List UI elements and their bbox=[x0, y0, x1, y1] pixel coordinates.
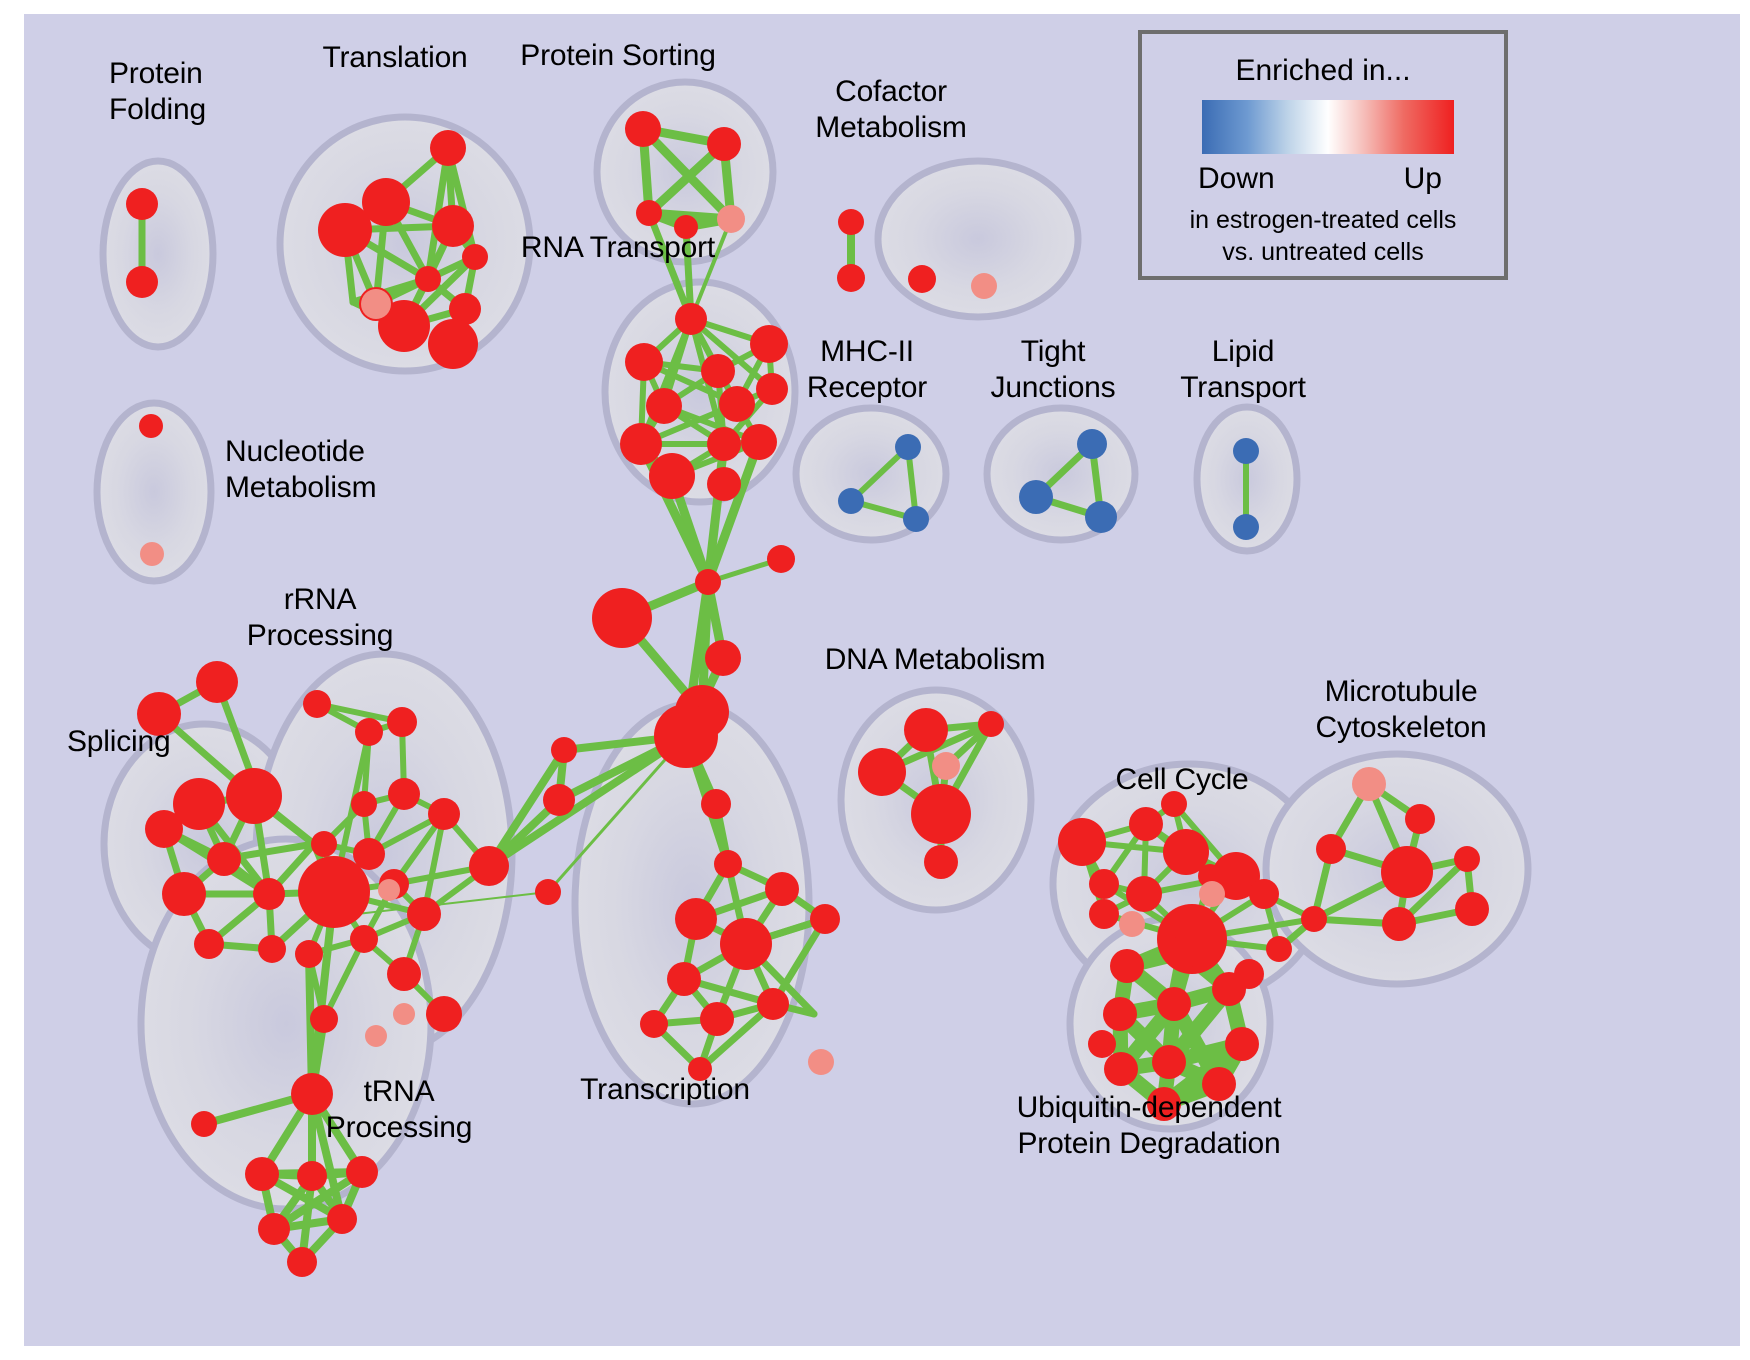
node bbox=[430, 130, 466, 166]
node bbox=[428, 798, 460, 830]
label-microtubule-cytoskeleton: Microtubule Cytoskeleton bbox=[1315, 674, 1486, 746]
node bbox=[1167, 935, 1201, 969]
node bbox=[551, 737, 577, 763]
node-weak bbox=[932, 752, 960, 780]
node bbox=[318, 203, 372, 257]
node bbox=[837, 264, 865, 292]
node bbox=[707, 127, 741, 161]
node bbox=[407, 897, 441, 931]
figure-root: Protein Folding Translation Protein Sort… bbox=[0, 0, 1750, 1360]
node bbox=[1104, 1052, 1138, 1086]
legend-high-label: Up bbox=[1404, 162, 1442, 196]
node-down bbox=[903, 506, 929, 532]
network-canvas: Protein Folding Translation Protein Sort… bbox=[24, 14, 1740, 1346]
node bbox=[646, 388, 682, 424]
node bbox=[625, 111, 661, 147]
node bbox=[1089, 869, 1119, 899]
node-down bbox=[1233, 514, 1259, 540]
node bbox=[1381, 846, 1433, 898]
label-protein-folding: Protein Folding bbox=[109, 56, 206, 128]
node bbox=[908, 265, 936, 293]
node bbox=[426, 996, 462, 1032]
node bbox=[720, 918, 772, 970]
node bbox=[126, 188, 158, 220]
node bbox=[1405, 804, 1435, 834]
node bbox=[351, 791, 377, 817]
node-weak bbox=[717, 205, 745, 233]
node-weak bbox=[140, 542, 164, 566]
node bbox=[620, 423, 662, 465]
legend-caption-line2: vs. untreated cells bbox=[1142, 238, 1504, 267]
node bbox=[310, 1005, 338, 1033]
node bbox=[1157, 987, 1191, 1021]
node bbox=[226, 768, 282, 824]
node bbox=[1058, 818, 1106, 866]
node bbox=[767, 545, 795, 573]
node bbox=[675, 898, 717, 940]
node bbox=[1126, 876, 1162, 912]
node bbox=[1225, 1027, 1259, 1061]
node bbox=[462, 244, 488, 270]
label-cofactor-metabolism: Cofactor Metabolism bbox=[815, 74, 966, 146]
node bbox=[904, 708, 948, 752]
node bbox=[196, 661, 238, 703]
node bbox=[1089, 899, 1119, 929]
label-lipid-transport: Lipid Transport bbox=[1180, 334, 1305, 406]
node bbox=[327, 1204, 357, 1234]
node bbox=[298, 856, 370, 928]
node bbox=[654, 704, 718, 768]
node-down bbox=[1019, 480, 1053, 514]
label-cell-cycle: Cell Cycle bbox=[1115, 762, 1248, 798]
node bbox=[1234, 959, 1264, 989]
node bbox=[625, 343, 663, 381]
node bbox=[700, 1002, 734, 1036]
node bbox=[1088, 1030, 1116, 1058]
legend-gradient-bar bbox=[1202, 100, 1454, 154]
node-down bbox=[1077, 429, 1107, 459]
label-rna-transport: RNA Transport bbox=[521, 230, 715, 266]
node bbox=[258, 1213, 290, 1245]
node bbox=[258, 935, 286, 963]
label-tight-junctions: Tight Junctions bbox=[991, 334, 1116, 406]
node-weak bbox=[1119, 911, 1145, 937]
node bbox=[207, 842, 241, 876]
node bbox=[428, 319, 478, 369]
label-trna-processing: tRNA Processing bbox=[326, 1074, 472, 1146]
node bbox=[355, 718, 383, 746]
node-weak bbox=[393, 1003, 415, 1025]
node bbox=[978, 711, 1004, 737]
legend-low-label: Down bbox=[1198, 162, 1275, 196]
node bbox=[162, 872, 206, 916]
node bbox=[707, 427, 741, 461]
node-weak bbox=[808, 1049, 834, 1075]
node bbox=[636, 200, 662, 226]
node-weak bbox=[365, 1025, 387, 1047]
node bbox=[388, 778, 420, 810]
node bbox=[765, 872, 799, 906]
label-translation: Translation bbox=[322, 40, 467, 76]
node-weak bbox=[1199, 881, 1225, 907]
node-weak bbox=[378, 879, 400, 901]
node bbox=[1129, 807, 1163, 841]
node bbox=[592, 588, 652, 648]
node bbox=[1152, 1045, 1186, 1079]
node bbox=[719, 386, 755, 422]
node bbox=[707, 467, 741, 501]
node bbox=[245, 1157, 279, 1191]
label-ubiquitin-protein-degradation: Ubiquitin-dependent Protein Degradation bbox=[1017, 1090, 1282, 1162]
node bbox=[1454, 846, 1480, 872]
node bbox=[535, 879, 561, 905]
node bbox=[387, 707, 417, 737]
node-weak bbox=[1352, 767, 1386, 801]
node bbox=[675, 303, 707, 335]
node-down bbox=[1085, 501, 1117, 533]
node bbox=[756, 373, 788, 405]
hull-protein-folding bbox=[103, 161, 213, 347]
node bbox=[415, 266, 441, 292]
node-down bbox=[895, 434, 921, 460]
label-rrna-processing: rRNA Processing bbox=[247, 582, 393, 654]
node bbox=[810, 904, 840, 934]
node bbox=[911, 784, 971, 844]
node bbox=[701, 354, 735, 388]
node bbox=[750, 325, 788, 363]
node bbox=[714, 850, 742, 878]
node-down bbox=[838, 488, 864, 514]
node bbox=[1455, 892, 1489, 926]
node-weak bbox=[361, 289, 391, 319]
node bbox=[1382, 907, 1416, 941]
node bbox=[705, 640, 741, 676]
node bbox=[543, 784, 575, 816]
node bbox=[701, 789, 731, 819]
node bbox=[194, 929, 224, 959]
legend-title: Enriched in... bbox=[1142, 54, 1504, 88]
label-splicing: Splicing bbox=[67, 724, 170, 760]
node bbox=[695, 569, 721, 595]
node bbox=[1110, 949, 1144, 983]
node bbox=[1103, 997, 1137, 1031]
node bbox=[303, 690, 331, 718]
node bbox=[191, 1111, 217, 1137]
node bbox=[741, 424, 777, 460]
node bbox=[126, 266, 158, 298]
node bbox=[287, 1247, 317, 1277]
node bbox=[295, 940, 323, 968]
node bbox=[432, 205, 474, 247]
node bbox=[667, 962, 701, 996]
node bbox=[1301, 906, 1327, 932]
node bbox=[649, 453, 695, 499]
node bbox=[838, 209, 864, 235]
node bbox=[253, 878, 285, 910]
node bbox=[1249, 879, 1279, 909]
node bbox=[139, 414, 163, 438]
node bbox=[311, 831, 337, 857]
node-down bbox=[1233, 438, 1259, 464]
node bbox=[858, 748, 906, 796]
node bbox=[1266, 936, 1292, 962]
node bbox=[346, 1156, 378, 1188]
label-nucleotide-metabolism: Nucleotide Metabolism bbox=[225, 434, 376, 506]
node bbox=[387, 957, 421, 991]
node bbox=[924, 845, 958, 879]
node bbox=[297, 1161, 327, 1191]
legend-box: Enriched in... Down Up in estrogen-treat… bbox=[1138, 30, 1508, 280]
label-protein-sorting: Protein Sorting bbox=[520, 38, 715, 74]
legend-caption-line1: in estrogen-treated cells bbox=[1142, 206, 1504, 235]
node bbox=[145, 810, 183, 848]
node bbox=[1316, 834, 1346, 864]
label-transcription: Transcription bbox=[580, 1072, 750, 1108]
node bbox=[350, 925, 378, 953]
label-mhc-ii-receptor: MHC-II Receptor bbox=[807, 334, 927, 406]
node bbox=[469, 846, 509, 886]
node bbox=[757, 988, 789, 1020]
label-dna-metabolism: DNA Metabolism bbox=[825, 642, 1046, 678]
node bbox=[640, 1010, 668, 1038]
node-weak bbox=[971, 273, 997, 299]
